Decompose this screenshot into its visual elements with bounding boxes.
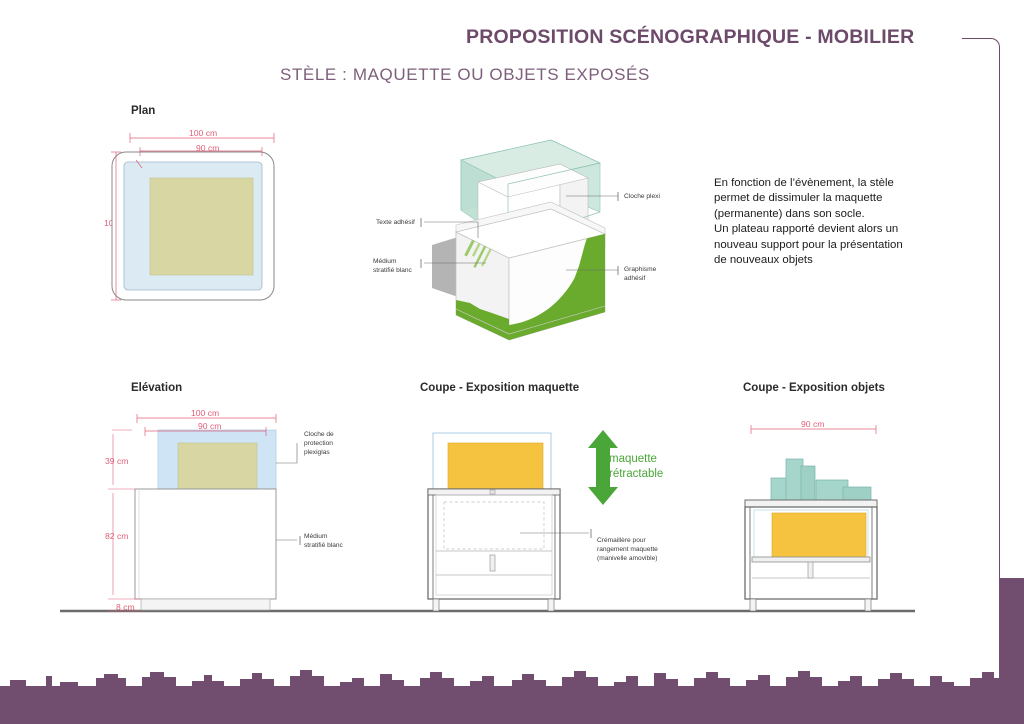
plan-dim-top-outer: 100 cm xyxy=(189,128,217,138)
plan-dim-top-inner: 90 cm xyxy=(196,143,219,153)
elevation-drawing xyxy=(108,414,300,611)
elevation-dim-plinth: 8 cm xyxy=(116,602,135,612)
elevation-dim-cloche: 39 cm xyxy=(105,456,128,466)
iso-callout-cloche: Cloche plexi xyxy=(624,192,660,201)
plan-drawing xyxy=(111,133,274,300)
section-objets-maquette-label: maquette xyxy=(791,518,840,530)
skyline-decoration xyxy=(0,664,1024,724)
iso-callout-graphisme: Graphisme adhésif xyxy=(624,265,656,283)
retractable-note: maquette rétractable xyxy=(609,452,663,482)
iso-drawing xyxy=(421,140,618,341)
section-maquette-label: maquette xyxy=(468,458,517,470)
heading-plan: Plan xyxy=(131,105,155,117)
elevation-dim-body: 82 cm xyxy=(105,531,128,541)
callout-cremaillere: Crémaillère pour rangement maquette (man… xyxy=(597,536,658,563)
object-box xyxy=(786,459,803,500)
iso-callout-medium: Médium stratifié blanc xyxy=(373,257,412,275)
description-text: En fonction de l’évènement, la stèle per… xyxy=(714,176,950,268)
elevation-dim-top-inner: 90 cm xyxy=(198,421,221,431)
object-box xyxy=(816,480,848,500)
plan-dim-left: 100 cm xyxy=(104,218,132,228)
elevation-callout-cloche: Cloche de protection plexiglas xyxy=(304,430,334,457)
elevation-maquette-label: maquette xyxy=(175,459,219,471)
presentation-page: PROPOSITION SCÉNOGRAPHIQUE - MOBILIER ST… xyxy=(0,0,1024,724)
object-box xyxy=(771,478,789,500)
page-subtitle: STÈLE : MAQUETTE OU OBJETS EXPOSÉS xyxy=(280,65,650,85)
objets-dim-width: 90 cm xyxy=(801,419,824,429)
heading-section-objets: Coupe - Exposition objets xyxy=(743,382,885,394)
object-box xyxy=(801,466,815,500)
elevation-callout-medium: Médium stratifié blanc xyxy=(304,532,343,550)
plan-radius-label: R 6 cm xyxy=(149,165,178,175)
frame-rule xyxy=(962,38,1000,590)
heading-elevation: Elévation xyxy=(131,382,182,394)
iso-callout-texte: Texte adhésif xyxy=(376,218,415,227)
heading-section-maquette: Coupe - Exposition maquette xyxy=(420,382,579,394)
elevation-dim-top-outer: 100 cm xyxy=(191,408,219,418)
page-title: PROPOSITION SCÉNOGRAPHIQUE - MOBILIER xyxy=(466,26,914,49)
section-maquette-drawing xyxy=(428,430,618,611)
object-box xyxy=(843,487,871,500)
